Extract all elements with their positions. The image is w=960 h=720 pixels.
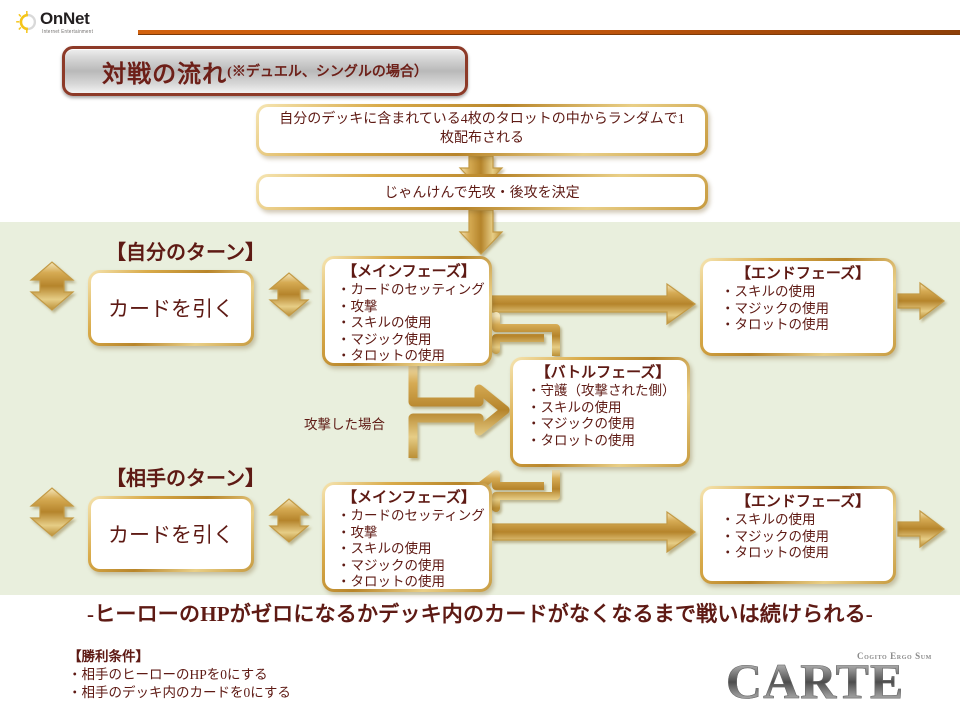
sun-icon xyxy=(16,11,38,33)
list-item: ・相手のデッキ内のカードを0にする xyxy=(68,684,291,702)
opponent-turn-main-phase-box: 【メインフェーズ】 ・カードのセッティング ・攻撃 ・スキルの使用 ・マジックの… xyxy=(322,482,492,592)
attack-condition-caption: 攻撃した場合 xyxy=(304,413,385,433)
opponent-main-phase-list: ・カードのセッティング ・攻撃 ・スキルの使用 ・マジックの使用 ・タロットの使… xyxy=(337,508,481,590)
list-item: ・相手のヒーローのHPを0にする xyxy=(68,666,291,684)
own-end-phase-heading: 【エンドフェーズ】 xyxy=(721,266,885,283)
opponent-turn-end-phase-box: 【エンドフェーズ】 ・スキルの使用 ・マジックの使用 ・タロットの使用 xyxy=(700,486,896,584)
opponent-end-phase-heading: 【エンドフェーズ】 xyxy=(721,494,885,511)
own-turn-draw-text: カードを引く xyxy=(108,293,234,323)
opponent-turn-draw-box: カードを引く xyxy=(88,496,254,572)
victory-conditions: 【勝利条件】 ・相手のヒーローのHPを0にする ・相手のデッキ内のカードを0にす… xyxy=(68,648,291,701)
list-item: ・マジックの使用 xyxy=(337,558,481,574)
own-turn-label: 【自分のターン】 xyxy=(106,236,265,265)
battle-duration-tagline: -ヒーローのHPがゼロになるかデッキ内のカードがなくなるまで戦いは続けられる- xyxy=(0,598,960,628)
own-main-phase-list: ・カードのセッティング ・攻撃 ・スキルの使用 ・マジック使用 ・タロットの使用 xyxy=(337,282,481,364)
header-rule-shadow xyxy=(138,34,960,35)
battle-phase-heading: 【バトルフェーズ】 xyxy=(527,365,679,382)
list-item: ・スキルの使用 xyxy=(337,315,481,331)
list-item: ・タロットの使用 xyxy=(721,317,885,333)
own-turn-draw-box: カードを引く xyxy=(88,270,254,346)
list-item: ・攻撃 xyxy=(337,525,481,541)
victory-conditions-list: ・相手のヒーローのHPを0にする ・相手のデッキ内のカードを0にする xyxy=(68,666,291,702)
list-item: ・カードのセッティング xyxy=(337,508,481,524)
page-title: 対戦の流れ (※デュエル、シングルの場合） xyxy=(62,46,468,96)
list-item: ・スキルの使用 xyxy=(721,512,885,528)
list-item: ・マジックの使用 xyxy=(527,416,679,432)
carte-logo: CARTE Cogito Ergo Sum xyxy=(726,650,946,712)
own-turn-end-phase-box: 【エンドフェーズ】 ・スキルの使用 ・マジックの使用 ・タロットの使用 xyxy=(700,258,896,356)
list-item: ・マジックの使用 xyxy=(721,301,885,317)
onnet-subtitle: Internet Entertainment xyxy=(42,28,93,34)
list-item: ・タロットの使用 xyxy=(337,348,481,364)
opponent-end-phase-list: ・スキルの使用 ・マジックの使用 ・タロットの使用 xyxy=(721,512,885,561)
list-item: ・カードのセッティング xyxy=(337,282,481,298)
carte-tagline: Cogito Ergo Sum xyxy=(857,651,932,661)
intro-step-1-box: 自分のデッキに含まれている4枚のタロットの中からランダムで1枚配布される xyxy=(256,104,708,156)
list-item: ・スキルの使用 xyxy=(337,541,481,557)
page-title-sub: (※デュエル、シングルの場合） xyxy=(227,61,428,81)
list-item: ・スキルの使用 xyxy=(527,400,679,416)
list-item: ・守護（攻撃された側） xyxy=(527,383,679,399)
onnet-wordmark: OnNet xyxy=(40,9,90,29)
opponent-main-phase-heading: 【メインフェーズ】 xyxy=(337,490,481,507)
list-item: ・スキルの使用 xyxy=(721,284,885,300)
slide-canvas: OnNet Internet Entertainment 対戦の流れ (※デュエ… xyxy=(0,0,960,720)
battle-phase-box: 【バトルフェーズ】 ・守護（攻撃された側） ・スキルの使用 ・マジックの使用 ・… xyxy=(510,357,690,467)
intro-step-2-text: じゃんけんで先攻・後攻を決定 xyxy=(384,182,579,202)
intro-step-2-box: じゃんけんで先攻・後攻を決定 xyxy=(256,174,708,210)
onnet-logo: OnNet Internet Entertainment xyxy=(14,6,134,40)
list-item: ・攻撃 xyxy=(337,299,481,315)
list-item: ・タロットの使用 xyxy=(721,545,885,561)
battle-phase-list: ・守護（攻撃された側） ・スキルの使用 ・マジックの使用 ・タロットの使用 xyxy=(527,383,679,449)
list-item: ・タロットの使用 xyxy=(337,574,481,590)
opponent-turn-draw-text: カードを引く xyxy=(108,519,234,549)
own-end-phase-list: ・スキルの使用 ・マジックの使用 ・タロットの使用 xyxy=(721,284,885,333)
opponent-turn-label: 【相手のターン】 xyxy=(106,462,265,491)
own-main-phase-heading: 【メインフェーズ】 xyxy=(337,264,481,281)
victory-conditions-heading: 【勝利条件】 xyxy=(68,648,291,666)
own-turn-main-phase-box: 【メインフェーズ】 ・カードのセッティング ・攻撃 ・スキルの使用 ・マジック使… xyxy=(322,256,492,366)
list-item: ・マジックの使用 xyxy=(721,529,885,545)
page-title-main: 対戦の流れ xyxy=(102,54,227,89)
intro-step-1-text: 自分のデッキに含まれている4枚のタロットの中からランダムで1枚配布される xyxy=(273,111,691,149)
list-item: ・タロットの使用 xyxy=(527,433,679,449)
list-item: ・マジック使用 xyxy=(337,332,481,348)
